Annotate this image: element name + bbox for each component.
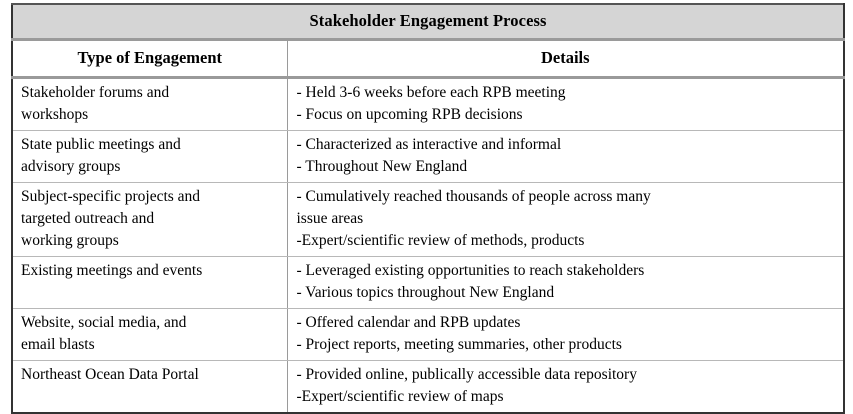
cell-text-line: Stakeholder forums and [21, 82, 281, 104]
cell-text-line: advisory groups [21, 156, 281, 178]
cell-text-line: - Focus on upcoming RPB decisions [297, 104, 838, 126]
cell-text-line: - Leveraged existing opportunities to re… [297, 260, 838, 282]
column-header-row: Type of Engagement Details [12, 40, 844, 78]
cell-details: - Characterized as interactive and infor… [287, 131, 844, 183]
cell-type-of-engagement: Website, social media, andemail blasts [12, 309, 287, 361]
table-row: State public meetings andadvisory groups… [12, 131, 844, 183]
cell-details: - Provided online, publically accessible… [287, 361, 844, 414]
cell-type-of-engagement: Subject-specific projects andtargeted ou… [12, 183, 287, 257]
cell-details: - Offered calendar and RPB updates- Proj… [287, 309, 844, 361]
cell-text-line: - Throughout New England [297, 156, 838, 178]
cell-text-line: -Expert/scientific review of methods, pr… [297, 230, 838, 252]
cell-text-line: - Project reports, meeting summaries, ot… [297, 334, 838, 356]
table-container: Stakeholder Engagement Process Type of E… [11, 3, 843, 414]
cell-text-line: targeted outreach and [21, 208, 281, 230]
table-row: Stakeholder forums andworkshops- Held 3-… [12, 78, 844, 131]
cell-text-line: - Offered calendar and RPB updates [297, 312, 838, 334]
table-body: Stakeholder forums andworkshops- Held 3-… [12, 78, 844, 414]
cell-text-line: - Provided online, publically accessible… [297, 364, 838, 386]
cell-text-line: workshops [21, 104, 281, 126]
cell-text-line: issue areas [297, 208, 838, 230]
cell-text-line: -Expert/scientific review of maps [297, 386, 838, 408]
cell-text-line: Subject-specific projects and [21, 186, 281, 208]
cell-text-line: - Characterized as interactive and infor… [297, 134, 838, 156]
stakeholder-engagement-table: Stakeholder Engagement Process Type of E… [11, 3, 845, 414]
cell-text-line: email blasts [21, 334, 281, 356]
column-header-details: Details [287, 40, 844, 78]
page-root: Stakeholder Engagement Process Type of E… [0, 0, 853, 414]
cell-details: - Cumulatively reached thousands of peop… [287, 183, 844, 257]
table-row: Existing meetings and events- Leveraged … [12, 257, 844, 309]
cell-text-line: State public meetings and [21, 134, 281, 156]
table-title-row: Stakeholder Engagement Process [12, 4, 844, 40]
table-row: Northeast Ocean Data Portal- Provided on… [12, 361, 844, 414]
cell-type-of-engagement: State public meetings andadvisory groups [12, 131, 287, 183]
cell-text-line: - Cumulatively reached thousands of peop… [297, 186, 838, 208]
table-title: Stakeholder Engagement Process [12, 4, 844, 40]
cell-text-line: - Held 3-6 weeks before each RPB meeting [297, 82, 838, 104]
cell-text-line: Website, social media, and [21, 312, 281, 334]
cell-type-of-engagement: Existing meetings and events [12, 257, 287, 309]
table-row: Website, social media, andemail blasts- … [12, 309, 844, 361]
column-header-type-of-engagement: Type of Engagement [12, 40, 287, 78]
cell-text-line: - Various topics throughout New England [297, 282, 838, 304]
cell-details: - Leveraged existing opportunities to re… [287, 257, 844, 309]
cell-details: - Held 3-6 weeks before each RPB meeting… [287, 78, 844, 131]
cell-type-of-engagement: Northeast Ocean Data Portal [12, 361, 287, 414]
table-row: Subject-specific projects andtargeted ou… [12, 183, 844, 257]
table-header: Stakeholder Engagement Process Type of E… [12, 4, 844, 78]
cell-type-of-engagement: Stakeholder forums andworkshops [12, 78, 287, 131]
cell-text-line: working groups [21, 230, 281, 252]
cell-text-line: Northeast Ocean Data Portal [21, 364, 281, 386]
cell-text-line: Existing meetings and events [21, 260, 281, 282]
